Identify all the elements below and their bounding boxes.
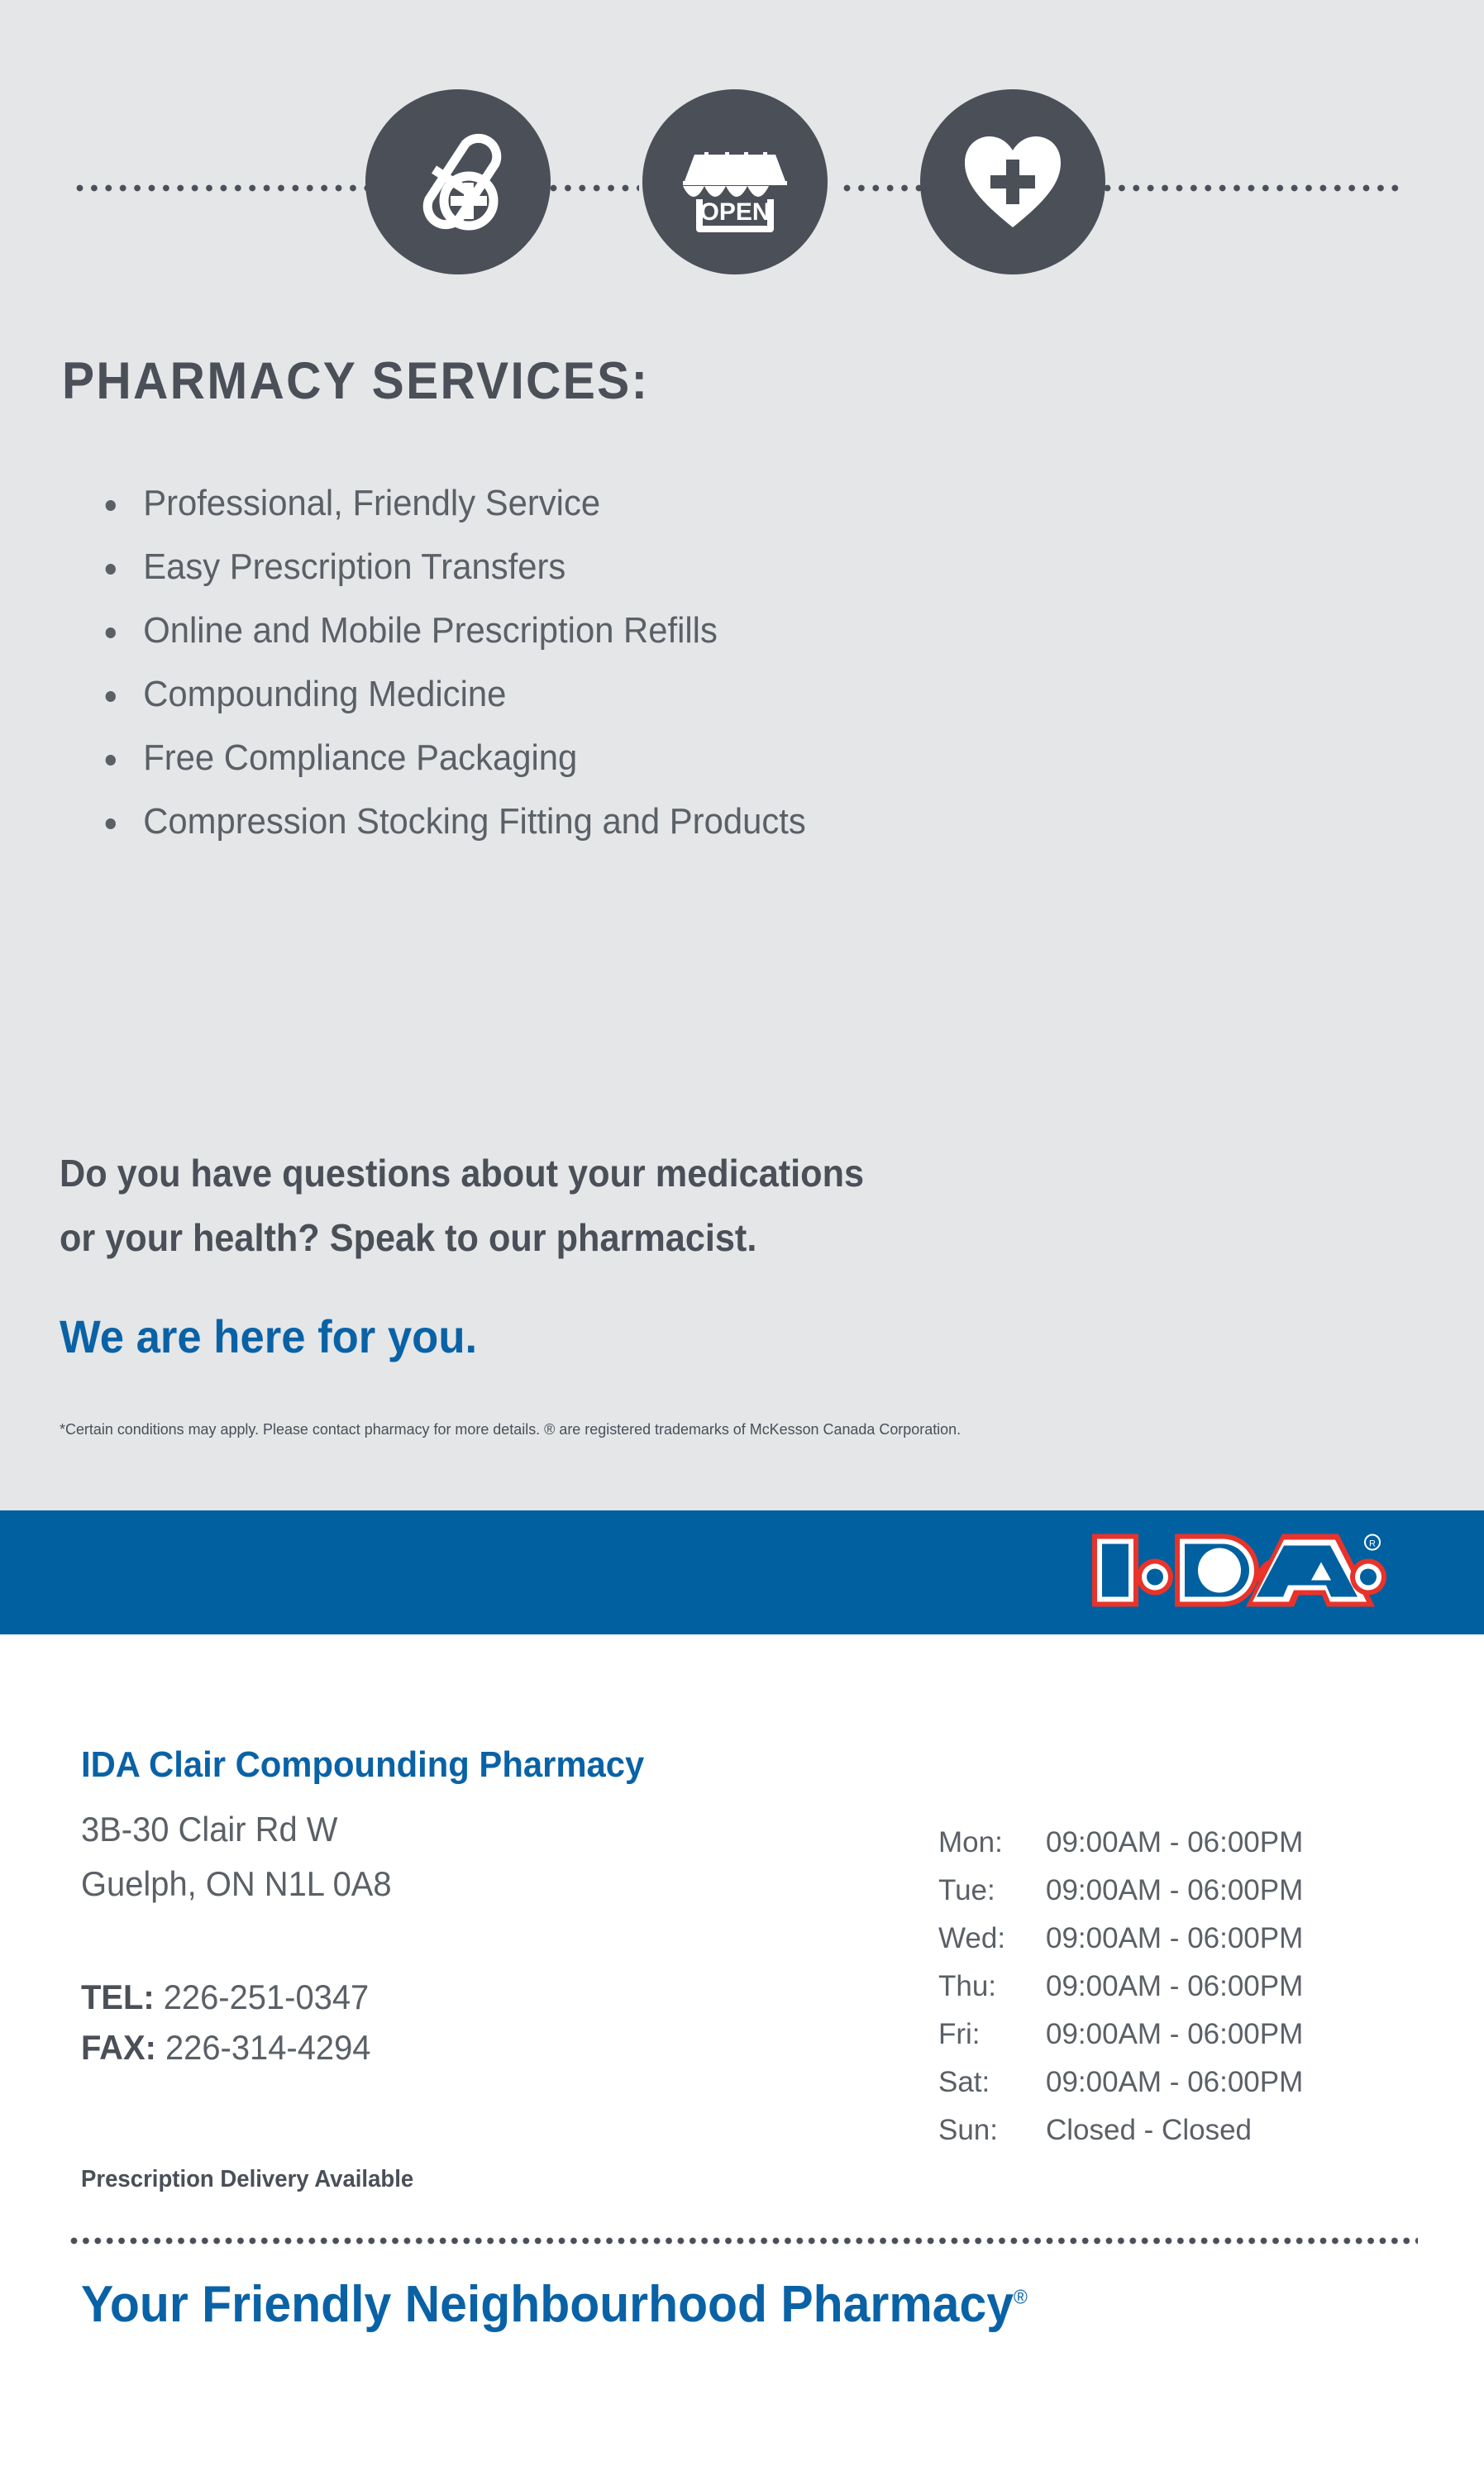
pills-plus-icon xyxy=(365,89,551,274)
questions-block: Do you have questions about your medicat… xyxy=(60,1141,1225,1270)
questions-line-2: or your health? Speak to our pharmacist. xyxy=(60,1205,1225,1270)
tel-row: TEL: 226-251-0347 xyxy=(81,1972,370,2022)
dotted-rule-mid-2 xyxy=(843,184,922,192)
list-item: Compounding Medicine xyxy=(99,662,1199,726)
table-row: Thu: 09:00AM - 06:00PM xyxy=(938,1963,1303,2011)
registered-mark: R xyxy=(1369,1539,1376,1549)
hours-day: Sun: xyxy=(938,2106,1046,2154)
hours-day: Mon: xyxy=(938,1819,1046,1867)
flyer-page: OPEN PHARMACY SERVICES: Professional, Fr… xyxy=(0,0,1484,2476)
brand-band: R xyxy=(0,1510,1484,1634)
fax-row: FAX: 226-314-4294 xyxy=(81,2022,370,2073)
table-row: Wed: 09:00AM - 06:00PM xyxy=(938,1915,1303,1963)
page-title: PHARMACY SERVICES: xyxy=(62,351,649,411)
services-list: Professional, Friendly Service Easy Pres… xyxy=(99,471,1257,853)
disclaimer-text: *Certain conditions may apply. Please co… xyxy=(60,1420,1247,1438)
list-item: Compression Stocking Fitting and Product… xyxy=(99,790,1199,853)
table-row: Tue: 09:00AM - 06:00PM xyxy=(938,1867,1303,1915)
store-name: IDA Clair Compounding Pharmacy xyxy=(81,1744,644,1786)
fax-value: 226-314-4294 xyxy=(165,2028,370,2067)
tagline-registered-mark: ® xyxy=(1014,2286,1028,2308)
open-sign-text: OPEN xyxy=(699,198,770,226)
hours-time: 09:00AM - 06:00PM xyxy=(1046,2059,1303,2106)
hours-table: Mon: 09:00AM - 06:00PM Tue: 09:00AM - 06… xyxy=(938,1819,1303,2154)
footer-tagline: Your Friendly Neighbourhood Pharmacy® xyxy=(81,2275,1028,2334)
hours-time: 09:00AM - 06:00PM xyxy=(1046,1963,1303,2011)
ida-logo: R xyxy=(1087,1526,1393,1620)
fax-label: FAX: xyxy=(81,2028,156,2067)
hours-day: Sat: xyxy=(938,2059,1046,2106)
store-address: 3B-30 Clair Rd W Guelph, ON N1L 0A8 xyxy=(81,1802,392,1911)
dotted-rule-left xyxy=(76,184,370,192)
dotted-rule-right xyxy=(1104,184,1405,192)
questions-line-1: Do you have questions about your medicat… xyxy=(60,1141,1225,1205)
list-item: Free Compliance Packaging xyxy=(99,726,1199,790)
hours-day: Fri: xyxy=(938,2011,1046,2059)
list-item: Online and Mobile Prescription Refills xyxy=(99,599,1199,662)
dotted-rule-mid-1 xyxy=(550,184,639,192)
hours-time: 09:00AM - 06:00PM xyxy=(1046,1915,1303,1963)
table-row: Mon: 09:00AM - 06:00PM xyxy=(938,1819,1303,1867)
list-item: Easy Prescription Transfers xyxy=(99,535,1199,599)
hours-day: Tue: xyxy=(938,1867,1046,1915)
tel-value: 226-251-0347 xyxy=(164,1977,369,2016)
table-row: Sat: 09:00AM - 06:00PM xyxy=(938,2059,1303,2106)
list-item: Professional, Friendly Service xyxy=(99,471,1199,535)
tel-label: TEL: xyxy=(81,1977,155,2016)
hours-time: 09:00AM - 06:00PM xyxy=(1046,1819,1303,1867)
hours-time: 09:00AM - 06:00PM xyxy=(1046,1867,1303,1915)
table-row: Sun: Closed - Closed xyxy=(938,2106,1303,2154)
delivery-note: Prescription Delivery Available xyxy=(81,2166,413,2193)
icon-strip: OPEN xyxy=(0,89,1484,279)
here-for-you-headline: We are here for you. xyxy=(60,1310,477,1363)
hours-time: 09:00AM - 06:00PM xyxy=(1046,2011,1303,2059)
store-contact: TEL: 226-251-0347 FAX: 226-314-4294 xyxy=(81,1972,370,2073)
table-row: Fri: 09:00AM - 06:00PM xyxy=(938,2011,1303,2059)
address-line-1: 3B-30 Clair Rd W xyxy=(81,1802,392,1857)
address-line-2: Guelph, ON N1L 0A8 xyxy=(81,1857,392,1911)
storefront-open-icon: OPEN xyxy=(642,89,828,274)
tagline-text: Your Friendly Neighbourhood Pharmacy xyxy=(81,2276,1014,2333)
hours-day: Thu: xyxy=(938,1963,1046,2011)
top-panel: OPEN PHARMACY SERVICES: Professional, Fr… xyxy=(0,0,1484,1510)
hours-time: Closed - Closed xyxy=(1046,2106,1303,2154)
footer-divider xyxy=(70,2237,1418,2245)
heart-plus-icon xyxy=(920,89,1105,274)
hours-day: Wed: xyxy=(938,1915,1046,1963)
